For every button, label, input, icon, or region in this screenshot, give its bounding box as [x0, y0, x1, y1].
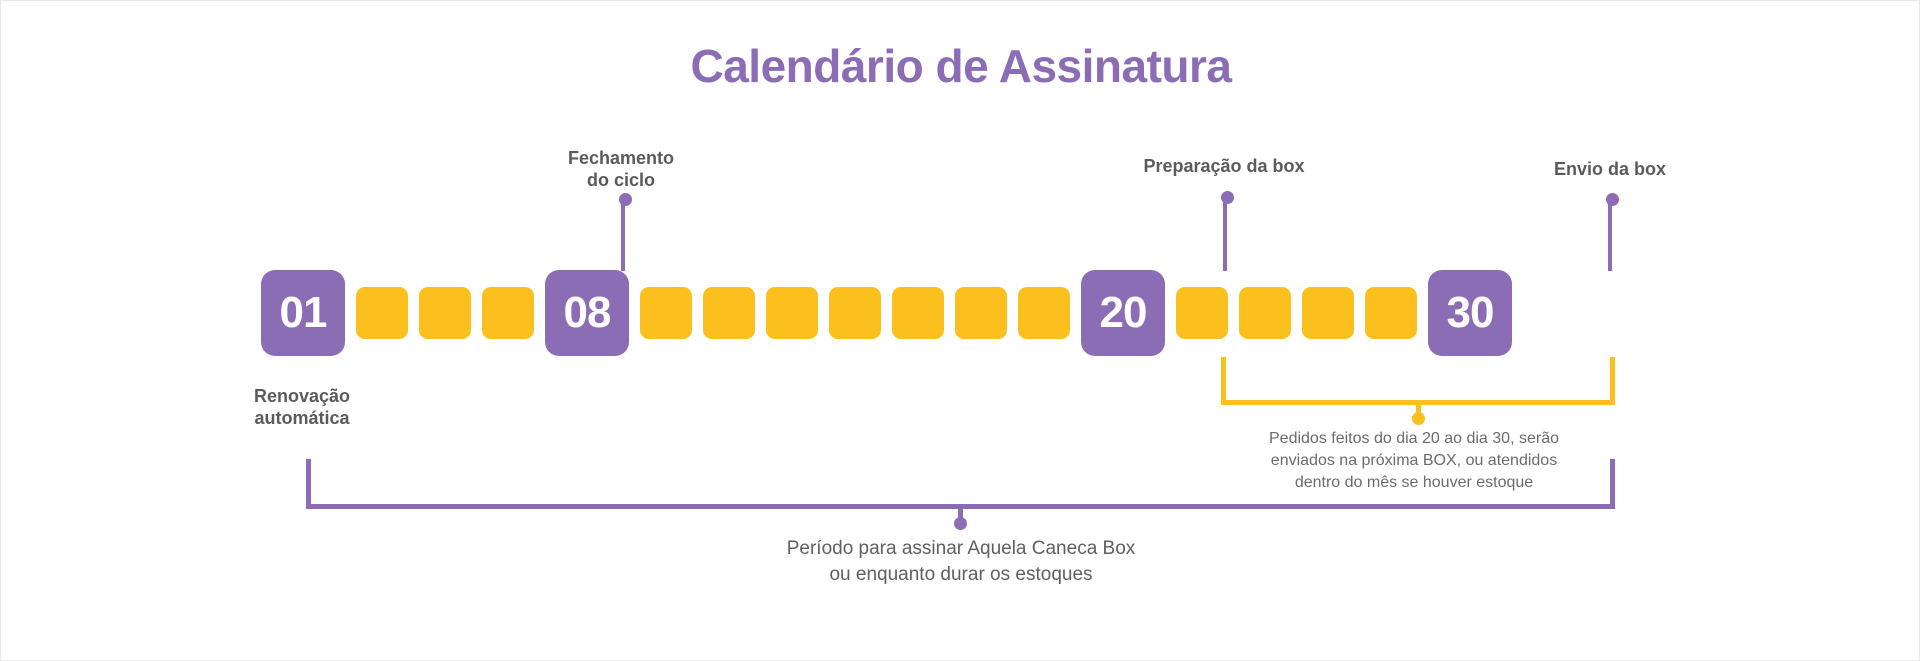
purple-caption-line2: ou enquanto durar os estoques [701, 562, 1221, 588]
yellow-caption-line3: dentro do mês se houver estoque [1184, 472, 1644, 494]
day-cell-milestone-30[interactable]: 30 [1428, 270, 1512, 356]
milestone-label-day20-line1: Preparação da box [1056, 156, 1392, 178]
milestone-label-day01: Renovação automática [142, 386, 462, 430]
day-cell-filler[interactable] [640, 287, 692, 339]
day-cell-filler[interactable] [703, 287, 755, 339]
day-cell-filler[interactable] [1176, 287, 1228, 339]
milestone-label-day01-line1: Renovação [142, 386, 462, 408]
day-cell-milestone-08[interactable]: 08 [545, 270, 629, 356]
day-cell-filler[interactable] [1239, 287, 1291, 339]
day-cell-milestone-01[interactable]: 01 [261, 270, 345, 356]
yellow-bracket-right-riser [1610, 357, 1615, 405]
day-cell-filler[interactable] [829, 287, 881, 339]
day-number-08: 08 [564, 291, 611, 335]
yellow-bracket-left-riser [1221, 357, 1226, 405]
page-title: Calendário de Assinatura [1, 39, 1920, 93]
day-cell-filler[interactable] [419, 287, 471, 339]
milestone-label-day08-line2: do ciclo [453, 170, 789, 192]
day-cell-filler[interactable] [955, 287, 1007, 339]
day-cell-filler[interactable] [482, 287, 534, 339]
day-cell-filler[interactable] [1365, 287, 1417, 339]
day-cell-filler[interactable] [356, 287, 408, 339]
day-cell-filler[interactable] [1018, 287, 1070, 339]
purple-bracket-left-riser [306, 459, 311, 509]
day-cell-milestone-20[interactable]: 20 [1081, 270, 1165, 356]
yellow-bracket-caption: Pedidos feitos do dia 20 ao dia 30, serã… [1184, 428, 1644, 494]
day-number-01: 01 [280, 291, 327, 335]
day-cell-filler[interactable] [766, 287, 818, 339]
milestone-label-day30: Envio da box [1442, 159, 1778, 181]
day-number-30: 30 [1447, 291, 1494, 335]
purple-bracket-right-riser [1610, 459, 1615, 509]
yellow-caption-line2: enviados na próxima BOX, ou atendidos [1184, 450, 1644, 472]
yellow-bracket-dot [1412, 412, 1425, 425]
day-cell-filler[interactable] [892, 287, 944, 339]
purple-bracket-caption: Período para assinar Aquela Caneca Box o… [701, 536, 1221, 588]
calendar-infographic: Calendário de Assinatura 01082030 Fecham… [0, 0, 1920, 661]
stem-line-day30 [1608, 199, 1612, 271]
stem-line-day08 [621, 199, 625, 271]
day-cell-filler[interactable] [1302, 287, 1354, 339]
milestone-label-day01-line2: automática [142, 408, 462, 430]
yellow-caption-line1: Pedidos feitos do dia 20 ao dia 30, serã… [1184, 428, 1644, 450]
milestone-label-day08: Fechamento do ciclo [453, 148, 789, 192]
stem-line-day20 [1223, 197, 1227, 271]
purple-caption-line1: Período para assinar Aquela Caneca Box [701, 536, 1221, 562]
purple-bracket-dot [954, 517, 967, 530]
milestone-label-day20: Preparação da box [1056, 156, 1392, 178]
day-number-20: 20 [1100, 291, 1147, 335]
milestone-label-day08-line1: Fechamento [453, 148, 789, 170]
milestone-label-day30-line1: Envio da box [1442, 159, 1778, 181]
